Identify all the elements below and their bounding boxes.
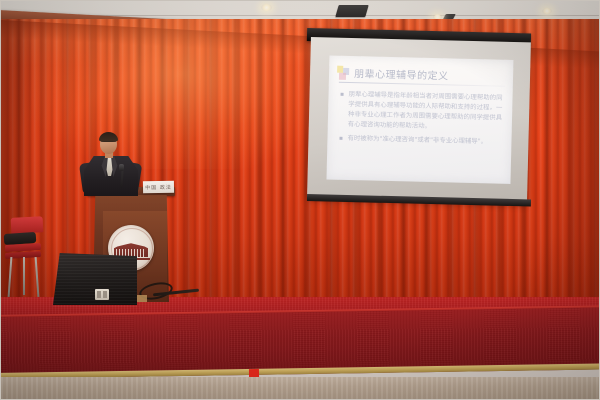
slide-bullet-item: 朋辈心理辅导是指年龄相当者对周围需要心理帮助的同学提供具有心理辅导功能的人际帮助… xyxy=(340,89,503,133)
hall-floor xyxy=(1,377,600,400)
cable-tape xyxy=(137,295,147,302)
name-card-text: 中国 政法 xyxy=(145,183,172,190)
presentation-slide: 朋辈心理辅导的定义 朋辈心理辅导是指年龄相当者对周围需要心理帮助的同学提供具有心… xyxy=(326,55,513,183)
slide-bullet-item: 有时被称为"准心理咨询"或者"非专业心理辅导"。 xyxy=(339,133,501,147)
slide-title: 朋辈心理辅导的定义 xyxy=(354,65,449,82)
ceiling-light-icon xyxy=(542,8,552,14)
microphone-icon xyxy=(119,164,124,171)
glasses-icon xyxy=(101,141,116,146)
speaker-connector-plate xyxy=(95,289,109,300)
stacked-chairs xyxy=(3,215,49,299)
slide-body: 朋辈心理辅导是指年龄相当者对周围需要心理帮助的同学提供具有心理辅导功能的人际帮助… xyxy=(339,89,502,151)
ceiling-vent-icon xyxy=(335,5,368,17)
speaker-person xyxy=(80,133,142,195)
projection-screen: 朋辈心理辅导的定义 朋辈心理辅导是指年龄相当者对周围需要心理帮助的同学提供具有心… xyxy=(307,37,531,202)
chair-backrest xyxy=(11,216,44,234)
auditorium-scene: 朋辈心理辅导的定义 朋辈心理辅导是指年龄相当者对周围需要心理帮助的同学提供具有心… xyxy=(0,0,600,400)
podium-name-card: 中国 政法 xyxy=(143,181,174,194)
ceiling-light-icon xyxy=(261,4,272,11)
stage-monitor-speaker xyxy=(53,253,137,307)
slide-title-divider xyxy=(339,82,505,87)
slide-accent-squares-icon xyxy=(337,66,350,80)
